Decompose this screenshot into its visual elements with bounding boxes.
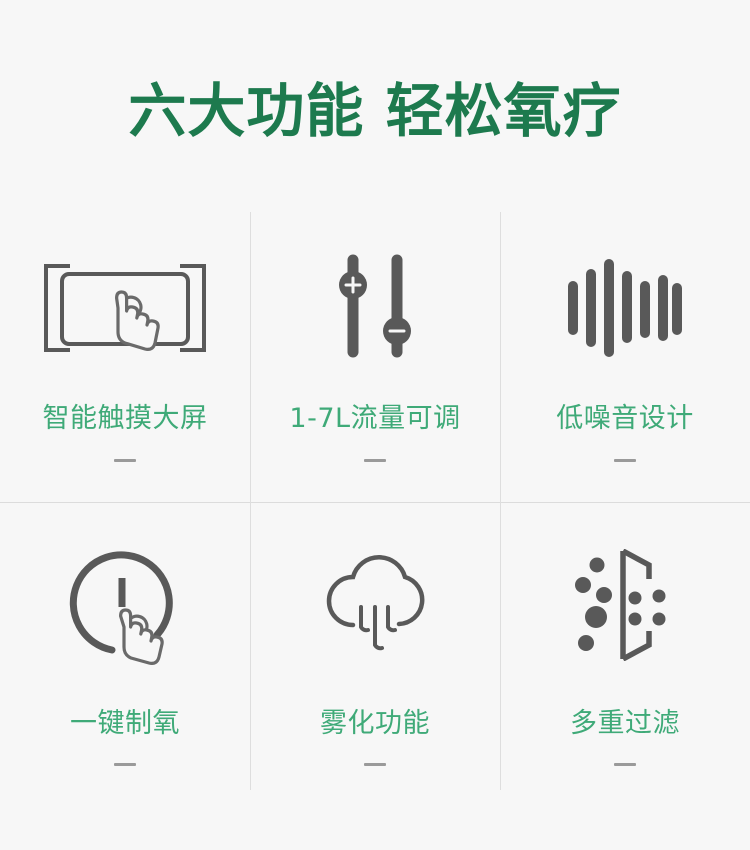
feature-label: 多重过滤 — [570, 710, 680, 737]
feature-label: 雾化功能 — [320, 710, 430, 737]
multi-filter-icon — [571, 530, 679, 680]
power-button-hand-icon — [65, 530, 185, 680]
feature-label: 一键制氧 — [70, 710, 180, 737]
touchscreen-hand-icon — [42, 233, 208, 383]
label-underline-dash — [364, 459, 386, 462]
feature-cell-touchscreen: 智能触摸大屏 — [0, 205, 250, 502]
features-grid: 智能触摸大屏 1-7 — [0, 205, 750, 790]
page-title: 六大功能 轻松氧疗 — [0, 78, 750, 145]
feature-label: 智能触摸大屏 — [43, 405, 208, 432]
label-underline-dash — [114, 763, 136, 766]
feature-label: 1-7L流量可调 — [289, 405, 460, 432]
sound-wave-icon — [567, 233, 683, 383]
feature-cell-low-noise: 低噪音设计 — [500, 205, 750, 502]
feature-cell-flow-adjust: 1-7L流量可调 — [250, 205, 500, 502]
cloud-mist-icon — [319, 530, 431, 680]
feature-cell-one-key-oxygen: 一键制氧 — [0, 502, 250, 790]
feature-grid-page: 六大功能 轻松氧疗 智能触摸大屏 — [0, 0, 750, 850]
label-underline-dash — [614, 459, 636, 462]
label-underline-dash — [614, 763, 636, 766]
label-underline-dash — [114, 459, 136, 462]
feature-cell-multi-filter: 多重过滤 — [500, 502, 750, 790]
feature-label: 低噪音设计 — [556, 405, 694, 432]
label-underline-dash — [364, 763, 386, 766]
feature-cell-nebulization: 雾化功能 — [250, 502, 500, 790]
slider-controls-icon — [325, 233, 425, 383]
